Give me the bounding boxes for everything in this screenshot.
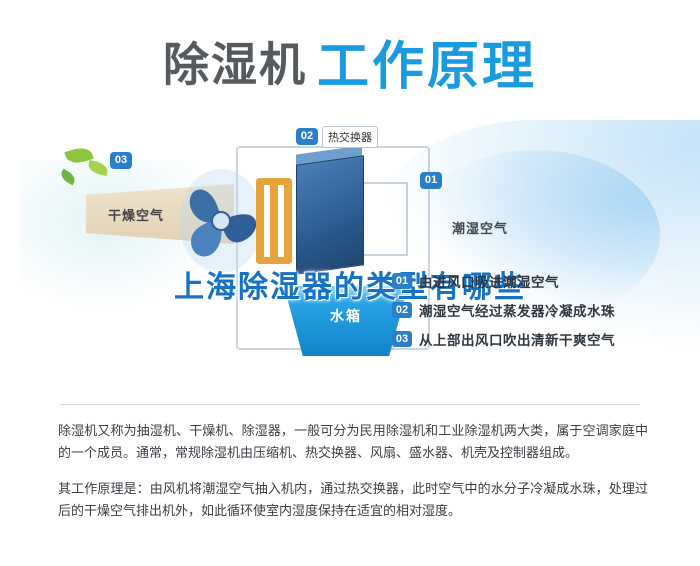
poster-page: 除湿机工作原理 干燥空气 03: [0, 0, 700, 566]
callout-bubble-02-diagram: 02: [296, 128, 318, 145]
list-item: 02 潮湿空气经过蒸发器冷凝成水珠: [392, 301, 692, 319]
page-title-part2: 工作原理: [317, 38, 537, 96]
article-body: 除湿机又称为抽湿机、干燥机、除湿器，一般可分为民用除湿机和工业除湿机两大类，属于…: [58, 420, 648, 522]
step-number: 03: [392, 331, 412, 347]
steps-list: 01 由进风口吸进潮湿空气 02 潮湿空气经过蒸发器冷凝成水珠 03 从上部出风…: [392, 272, 692, 359]
list-item: 03 从上部出风口吹出清新干爽空气: [392, 330, 692, 348]
page-title-part1: 除湿机: [163, 39, 307, 91]
list-item: 01 由进风口吸进潮湿空气: [392, 272, 692, 290]
paragraph: 其工作原理是：由风机将潮湿空气抽入机内，通过热交换器，此时空气中的水分子冷凝成水…: [58, 478, 648, 522]
dry-air-label: 干燥空气: [108, 205, 164, 224]
paragraph: 除湿机又称为抽湿机、干燥机、除湿器，一般可分为民用除湿机和工业除湿机两大类，属于…: [58, 420, 648, 464]
step-number: 02: [392, 302, 412, 318]
step-text: 从上部出风口吹出清新干爽空气: [419, 329, 615, 349]
divider: [60, 404, 640, 405]
heat-exchanger-tag: 热交换器: [322, 126, 378, 148]
air-duct-outline: [362, 182, 408, 256]
callout-bubble-03-diagram: 03: [110, 152, 132, 169]
callout-bubble-01-diagram: 01: [420, 172, 442, 189]
step-text: 潮湿空气经过蒸发器冷凝成水珠: [419, 300, 615, 320]
page-title: 除湿机工作原理: [0, 24, 700, 99]
step-text: 由进风口吸进潮湿空气: [419, 271, 559, 291]
water-tank-label: 水箱: [286, 306, 406, 326]
heat-exchanger-block: [296, 155, 364, 275]
step-number: 01: [392, 273, 412, 289]
moist-air-label: 潮湿空气: [452, 218, 508, 237]
